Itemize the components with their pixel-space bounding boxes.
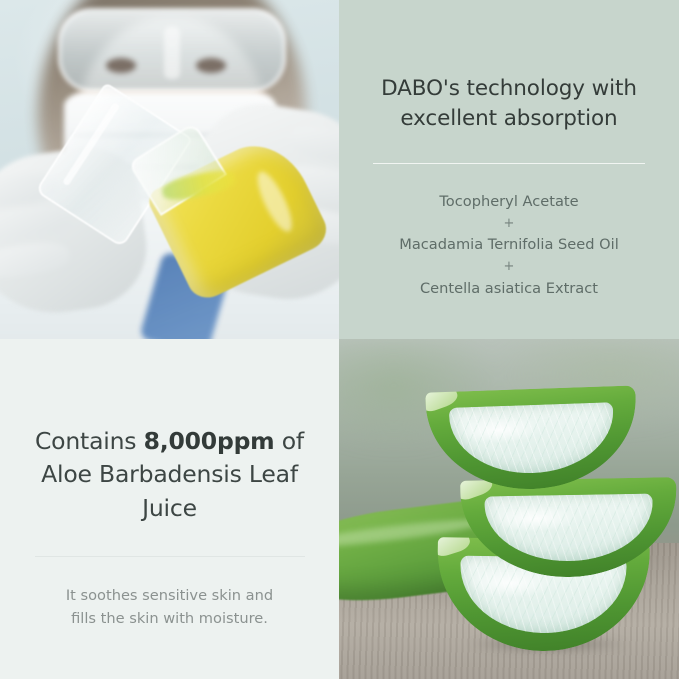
ingredient-separator: +: [399, 257, 619, 277]
lab-photo-panel: [0, 0, 339, 339]
glove-finger: [0, 239, 71, 281]
technology-panel: DABO's technology with excellent absorpt…: [339, 0, 679, 339]
aloe-caption-line1: It soothes sensitive skin and: [66, 584, 273, 607]
aloe-claim-panel: Contains 8,000ppm of Aloe Barbadensis Le…: [0, 339, 339, 679]
technology-divider: [373, 163, 645, 164]
aloe-headline-line2: Aloe Barbadensis Leaf Juice: [41, 460, 298, 521]
ingredient-item: Centella asiatica Extract: [399, 277, 619, 301]
ingredient-list: Tocopheryl Acetate + Macadamia Ternifoli…: [399, 190, 619, 300]
researcher-eye-left: [106, 58, 136, 73]
product-feature-collage: DABO's technology with excellent absorpt…: [0, 0, 679, 679]
ingredient-item: Tocopheryl Acetate: [399, 190, 619, 214]
aloe-headline: Contains 8,000ppm of Aloe Barbadensis Le…: [25, 425, 315, 525]
aloe-photo-panel: [339, 339, 679, 679]
technology-title: DABO's technology with excellent absorpt…: [373, 74, 645, 133]
ingredient-separator: +: [399, 214, 619, 234]
aloe-caption-line2: fills the skin with moisture.: [66, 607, 273, 630]
researcher-eye-right: [196, 58, 226, 73]
ingredient-item: Macadamia Ternifolia Seed Oil: [399, 233, 619, 257]
aloe-divider: [35, 556, 305, 557]
aloe-caption: It soothes sensitive skin and fills the …: [66, 584, 273, 630]
safety-goggles: [58, 8, 286, 92]
aloe-headline-highlight: 8,000ppm: [144, 427, 275, 455]
aloe-headline-suffix: of: [274, 427, 304, 455]
aloe-headline-prefix: Contains: [35, 427, 144, 455]
